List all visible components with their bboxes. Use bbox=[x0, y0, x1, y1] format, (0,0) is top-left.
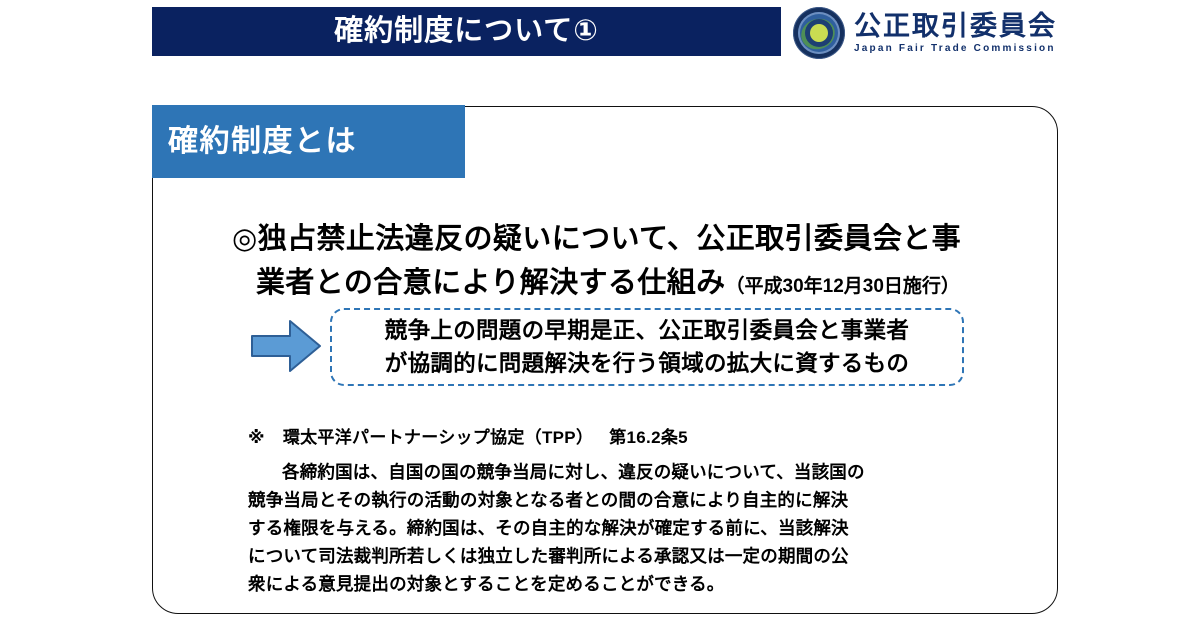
page-title: 確約制度について① bbox=[334, 17, 599, 46]
headline-line-2: 業者との合意により解決する仕組み（平成30年12月30日施行） bbox=[232, 261, 1022, 309]
footnote-treaty-name: 環太平洋パートナーシップ協定（TPP） bbox=[283, 424, 593, 452]
footnote-heading: ※ 環太平洋パートナーシップ協定（TPP） 第16.2条5 bbox=[248, 424, 1008, 452]
callout-line-2: が協調的に問題解決を行う領域の拡大に資するもの bbox=[385, 347, 909, 380]
slide-title-bar: 確約制度について① bbox=[152, 7, 781, 56]
logo-name-english: Japan Fair Trade Commission bbox=[854, 43, 1057, 54]
footnote-block: ※ 環太平洋パートナーシップ協定（TPP） 第16.2条5 各締約国は、自国の国… bbox=[248, 424, 1008, 598]
headline-enforcement-note: （平成30年12月30日施行） bbox=[726, 276, 960, 297]
footnote-mark: ※ bbox=[248, 424, 265, 452]
right-arrow-icon bbox=[250, 318, 322, 374]
footnote-body-line: 各締約国は、自国の国の競争当局に対し、違反の疑いについて、当該国の bbox=[248, 458, 1008, 486]
jftc-logo: 公正取引委員会 Japan Fair Trade Commission bbox=[793, 4, 1053, 62]
logo-wordmark: 公正取引委員会 Japan Fair Trade Commission bbox=[854, 12, 1057, 53]
headline-line-1: ◎独占禁止法違反の疑いについて、公正取引委員会と事 bbox=[232, 217, 1022, 261]
footnote-body-line: について司法裁判所若しくは独立した審判所による承認又は一定の期間の公 bbox=[248, 542, 1008, 570]
footnote-body-line: 衆による意見提出の対象とすることを定めることができる。 bbox=[248, 570, 1008, 598]
headline-block: ◎独占禁止法違反の疑いについて、公正取引委員会と事 業者との合意により解決する仕… bbox=[232, 217, 1022, 309]
section-heading-label: 確約制度とは bbox=[168, 127, 357, 157]
footnote-body-line: 競争当局とその執行の活動の対象となる者との間の合意により自主的に解決 bbox=[248, 486, 1008, 514]
callout-line-1: 競争上の問題の早期是正、公正取引委員会と事業者 bbox=[385, 314, 909, 347]
jftc-emblem-icon bbox=[793, 7, 845, 59]
logo-name-japanese: 公正取引委員会 bbox=[854, 12, 1057, 40]
slide-header: 確約制度について① 公正取引委員会 Japan Fair Trade Commi… bbox=[0, 0, 1200, 70]
headline-line-2-main: 業者との合意により解決する仕組み bbox=[256, 267, 726, 299]
callout-box: 競争上の問題の早期是正、公正取引委員会と事業者 が協調的に問題解決を行う領域の拡… bbox=[330, 308, 964, 386]
footnote-body: 各締約国は、自国の国の競争当局に対し、違反の疑いについて、当該国の 競争当局とそ… bbox=[248, 458, 1008, 598]
footnote-article-number: 第16.2条5 bbox=[609, 424, 688, 452]
footnote-body-line: する権限を与える。締約国は、その自主的な解決が確定する前に、当該解決 bbox=[248, 514, 1008, 542]
section-heading-chip: 確約制度とは bbox=[152, 105, 465, 178]
